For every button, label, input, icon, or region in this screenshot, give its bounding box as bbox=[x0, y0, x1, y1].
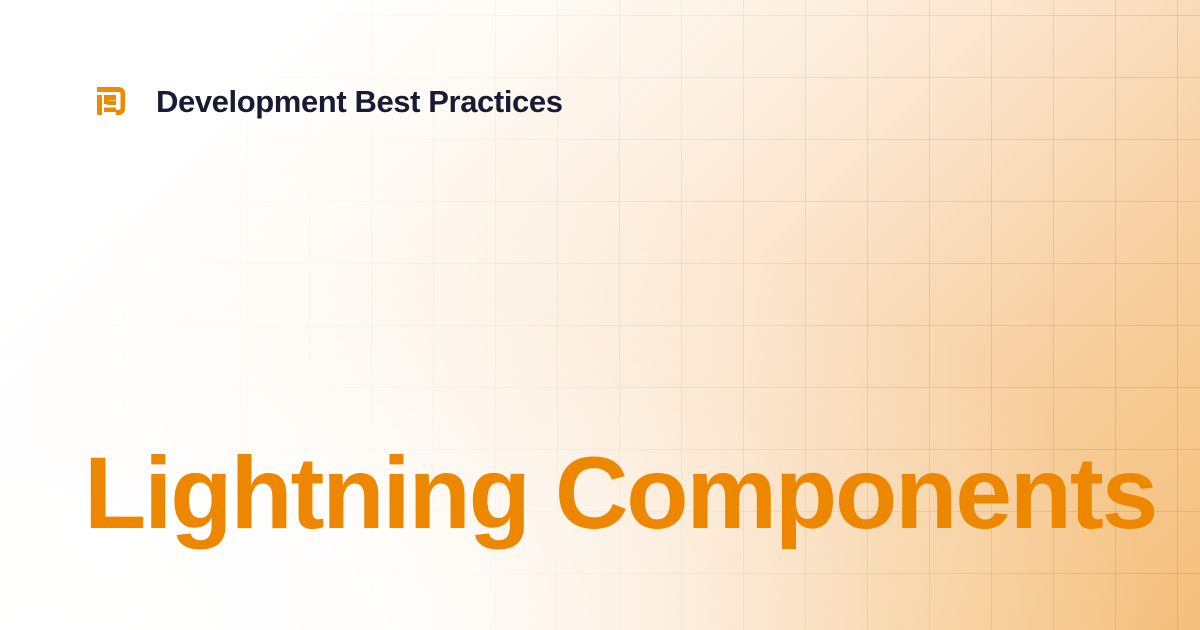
header: Development Best Practices bbox=[88, 78, 563, 124]
brand-logo-icon bbox=[95, 85, 127, 117]
logo-plate bbox=[88, 78, 134, 124]
page-title: Lightning Components bbox=[84, 440, 1156, 547]
og-card: Development Best Practices Lightning Com… bbox=[0, 0, 1200, 630]
eyebrow-label: Development Best Practices bbox=[156, 86, 563, 117]
